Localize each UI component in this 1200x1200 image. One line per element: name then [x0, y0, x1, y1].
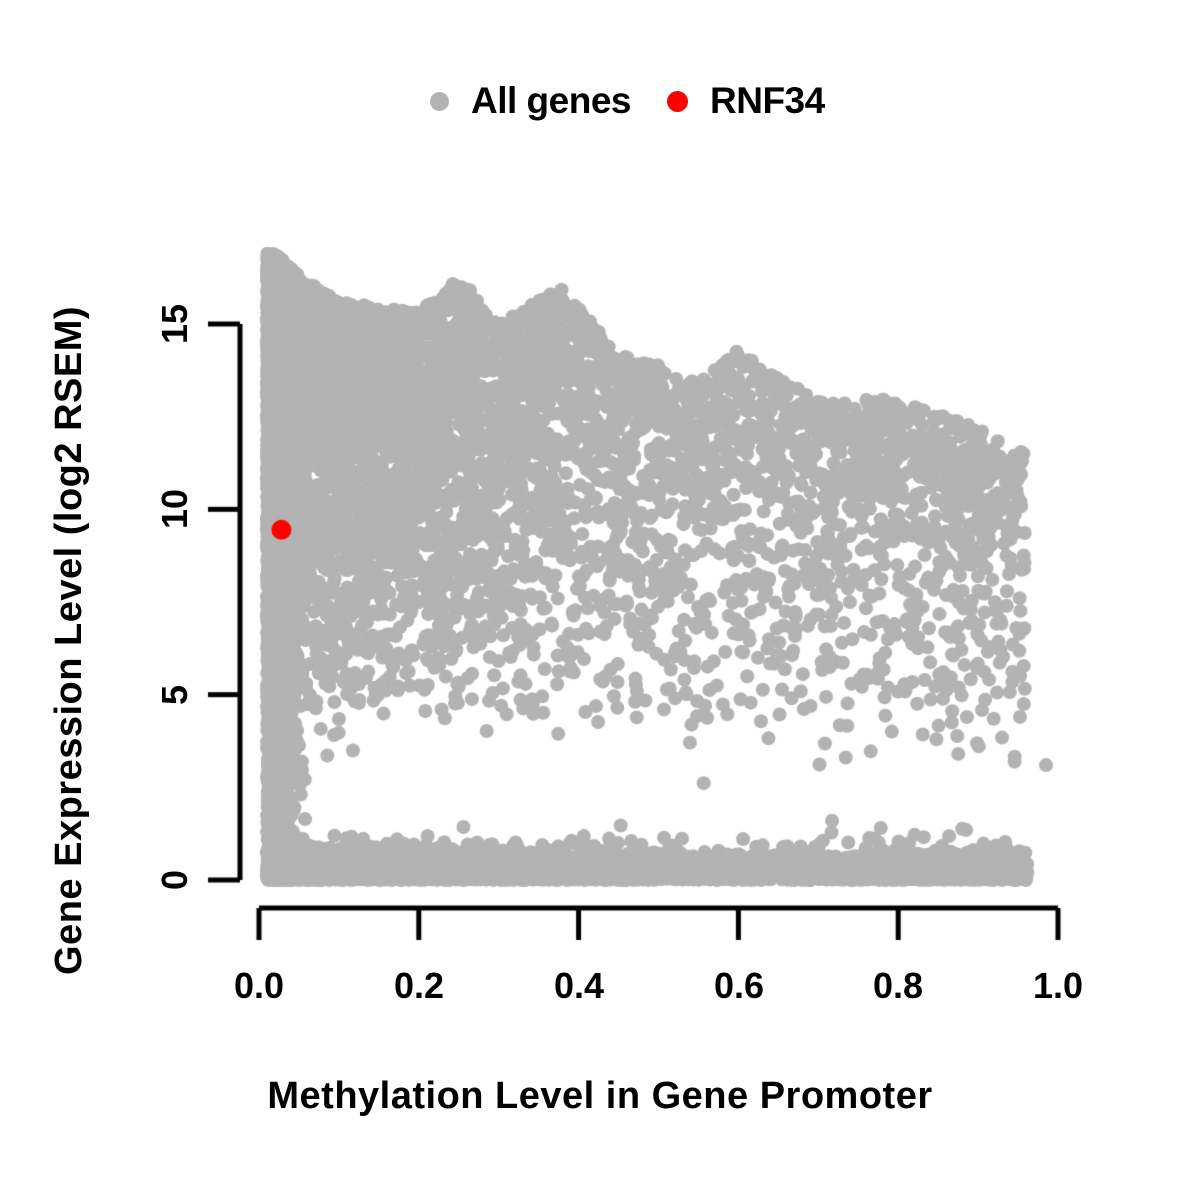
x-tick-label-3: 0.6 — [714, 965, 764, 1007]
x-tick-label-1: 0.2 — [394, 965, 444, 1007]
x-axis-title: Methylation Level in Gene Promoter — [0, 1075, 1200, 1118]
x-tick-label-2: 0.4 — [554, 965, 604, 1007]
legend-label-rnf34: RNF34 — [710, 80, 825, 122]
legend-label-all-genes: All genes — [471, 80, 631, 122]
y-tick-label-3: 15 — [154, 304, 196, 344]
x-tick-label-5: 1.0 — [1033, 965, 1083, 1007]
legend: All genes RNF34 — [430, 80, 825, 122]
x-tick-label-0: 0.0 — [234, 965, 284, 1007]
y-tick-label-1: 5 — [154, 685, 196, 705]
scatter-plot-figure: All genes RNF34 Methylation Level in Gen… — [0, 0, 1200, 1200]
y-tick-label-2: 10 — [154, 489, 196, 529]
y-tick-label-0: 0 — [154, 870, 196, 890]
legend-entry-rnf34: RNF34 — [667, 80, 825, 122]
legend-marker-rnf34-icon — [667, 91, 688, 112]
x-tick-label-4: 0.8 — [873, 965, 923, 1007]
y-axis-title: Gene Expression Level (log2 RSEM) — [48, 306, 91, 975]
legend-entry-all-genes: All genes — [430, 80, 631, 122]
legend-marker-all-genes-icon — [430, 92, 449, 111]
scatter-plot-canvas — [0, 0, 1200, 1200]
